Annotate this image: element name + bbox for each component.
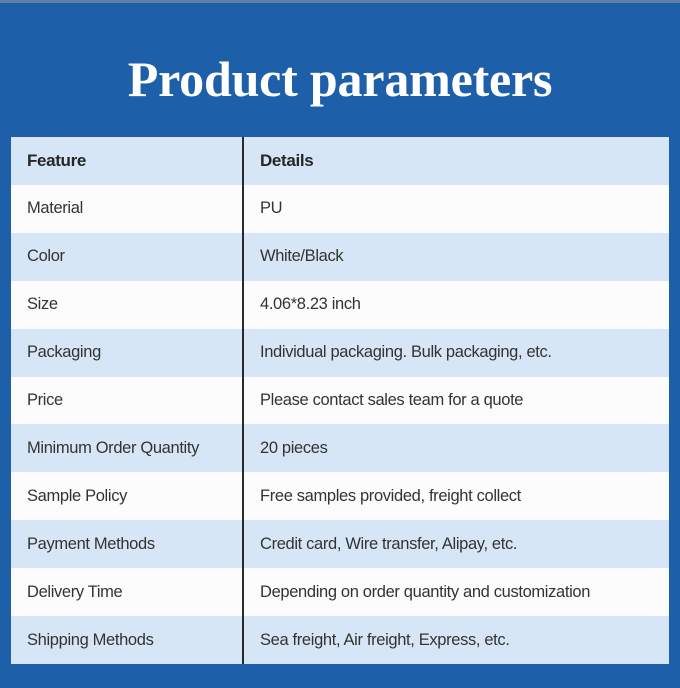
table-row: Shipping Methods Sea freight, Air freigh… (11, 616, 669, 664)
cell-feature-packaging: Packaging (11, 329, 243, 377)
cell-details-shipping-methods: Sea freight, Air freight, Express, etc. (243, 616, 669, 664)
page-title: Product parameters (0, 50, 680, 108)
table-row: Delivery Time Depending on order quantit… (11, 568, 669, 616)
cell-feature-sample-policy: Sample Policy (11, 472, 243, 520)
cell-feature-shipping-methods: Shipping Methods (11, 616, 243, 664)
parameters-table: Feature Details Material PU Color White/… (11, 137, 669, 664)
cell-details-color: White/Black (243, 233, 669, 281)
table-row: Packaging Individual packaging. Bulk pac… (11, 329, 669, 377)
cell-feature-material: Material (11, 185, 243, 233)
table-row: Sample Policy Free samples provided, fre… (11, 472, 669, 520)
column-header-details: Details (243, 137, 669, 185)
table-body: Material PU Color White/Black Size 4.06*… (11, 185, 669, 664)
cell-feature-size: Size (11, 281, 243, 329)
cell-feature-delivery-time: Delivery Time (11, 568, 243, 616)
table-header-row: Feature Details (11, 137, 669, 185)
table-row: Payment Methods Credit card, Wire transf… (11, 520, 669, 568)
cell-details-delivery-time: Depending on order quantity and customiz… (243, 568, 669, 616)
cell-details-packaging: Individual packaging. Bulk packaging, et… (243, 329, 669, 377)
cell-feature-minimum-order-quantity: Minimum Order Quantity (11, 424, 243, 472)
column-header-feature: Feature (11, 137, 243, 185)
table-row: Material PU (11, 185, 669, 233)
cell-details-price: Please contact sales team for a quote (243, 377, 669, 425)
table-header: Feature Details (11, 137, 669, 185)
cell-details-minimum-order-quantity: 20 pieces (243, 424, 669, 472)
top-edge-strip (0, 0, 680, 3)
table-row: Minimum Order Quantity 20 pieces (11, 424, 669, 472)
cell-details-payment-methods: Credit card, Wire transfer, Alipay, etc. (243, 520, 669, 568)
parameters-table-container: Feature Details Material PU Color White/… (11, 137, 669, 664)
cell-feature-price: Price (11, 377, 243, 425)
cell-feature-color: Color (11, 233, 243, 281)
product-parameters-page: Product parameters Feature Details Mater… (0, 0, 680, 688)
table-row: Price Please contact sales team for a qu… (11, 377, 669, 425)
cell-details-size: 4.06*8.23 inch (243, 281, 669, 329)
cell-details-sample-policy: Free samples provided, freight collect (243, 472, 669, 520)
table-row: Size 4.06*8.23 inch (11, 281, 669, 329)
table-row: Color White/Black (11, 233, 669, 281)
cell-feature-payment-methods: Payment Methods (11, 520, 243, 568)
cell-details-material: PU (243, 185, 669, 233)
